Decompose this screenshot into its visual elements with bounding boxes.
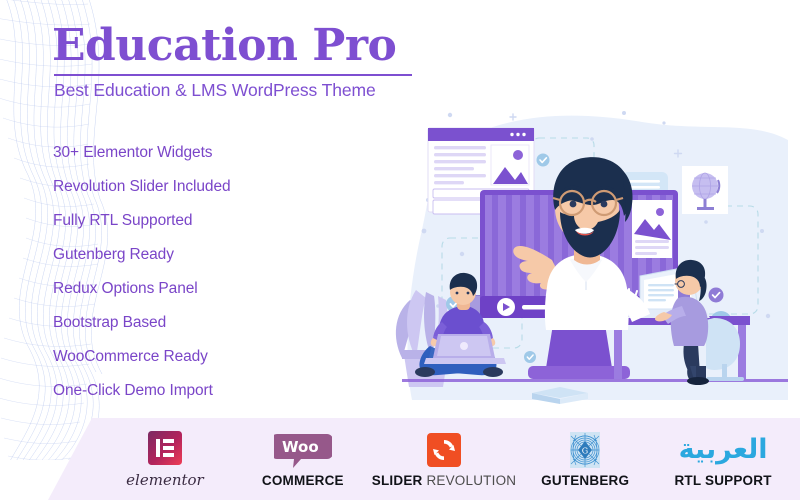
headline-block: Education Pro Best Education & LMS WordP… (52, 22, 472, 101)
logo-label: SLIDER REVOLUTION (372, 473, 516, 488)
logo-slider-revolution[interactable]: SLIDER REVOLUTION (372, 431, 516, 488)
revolution-light: REVOLUTION (423, 473, 517, 488)
list-item: Revolution Slider Included (53, 170, 373, 204)
svg-text:Woo: Woo (282, 438, 319, 456)
logo-label: COMMERCE (262, 473, 344, 488)
logo-elementor[interactable]: elementor (96, 429, 234, 489)
check-badge-icon (709, 288, 724, 303)
title-divider (54, 74, 412, 76)
list-item: Gutenberg Ready (53, 238, 373, 272)
list-item: 30+ Elementor Widgets (53, 136, 373, 170)
list-item: WooCommerce Ready (53, 340, 373, 374)
list-item: Bootstrap Based (53, 306, 373, 340)
svg-text:G: G (582, 446, 588, 455)
logo-rtl-support[interactable]: العربية RTL SUPPORT (654, 431, 792, 488)
footer-logo-strip: elementor Woo COMMERCE (0, 418, 800, 500)
slider-revolution-icon (427, 431, 461, 469)
logo-label: elementor (126, 471, 204, 489)
arabic-text: العربية (679, 432, 768, 468)
logo-label: GUTENBERG (541, 473, 629, 488)
list-item: Fully RTL Supported (53, 204, 373, 238)
logo-label: RTL SUPPORT (674, 473, 771, 488)
logo-gutenberg[interactable]: G GUTENBERG (516, 431, 654, 488)
check-badge-icon (537, 154, 550, 167)
logo-woocommerce[interactable]: Woo COMMERCE (234, 431, 372, 488)
page-subtitle: Best Education & LMS WordPress Theme (54, 79, 472, 101)
page-title: Education Pro (52, 22, 472, 70)
list-item: One-Click Demo Import (53, 374, 373, 408)
e-learning-illustration (392, 100, 800, 420)
gutenberg-icon: G (570, 431, 600, 469)
globe-icon (682, 166, 728, 214)
woocommerce-icon: Woo (274, 431, 332, 469)
arabic-wordmark-icon: العربية (679, 431, 768, 469)
check-badge-icon (524, 351, 536, 363)
elementor-icon (148, 429, 182, 467)
promo-banner: Education Pro Best Education & LMS WordP… (0, 0, 800, 500)
slider-bold: SLIDER (372, 473, 423, 488)
feature-list: 30+ Elementor Widgets Revolution Slider … (53, 136, 373, 408)
list-item: Redux Options Panel (53, 272, 373, 306)
